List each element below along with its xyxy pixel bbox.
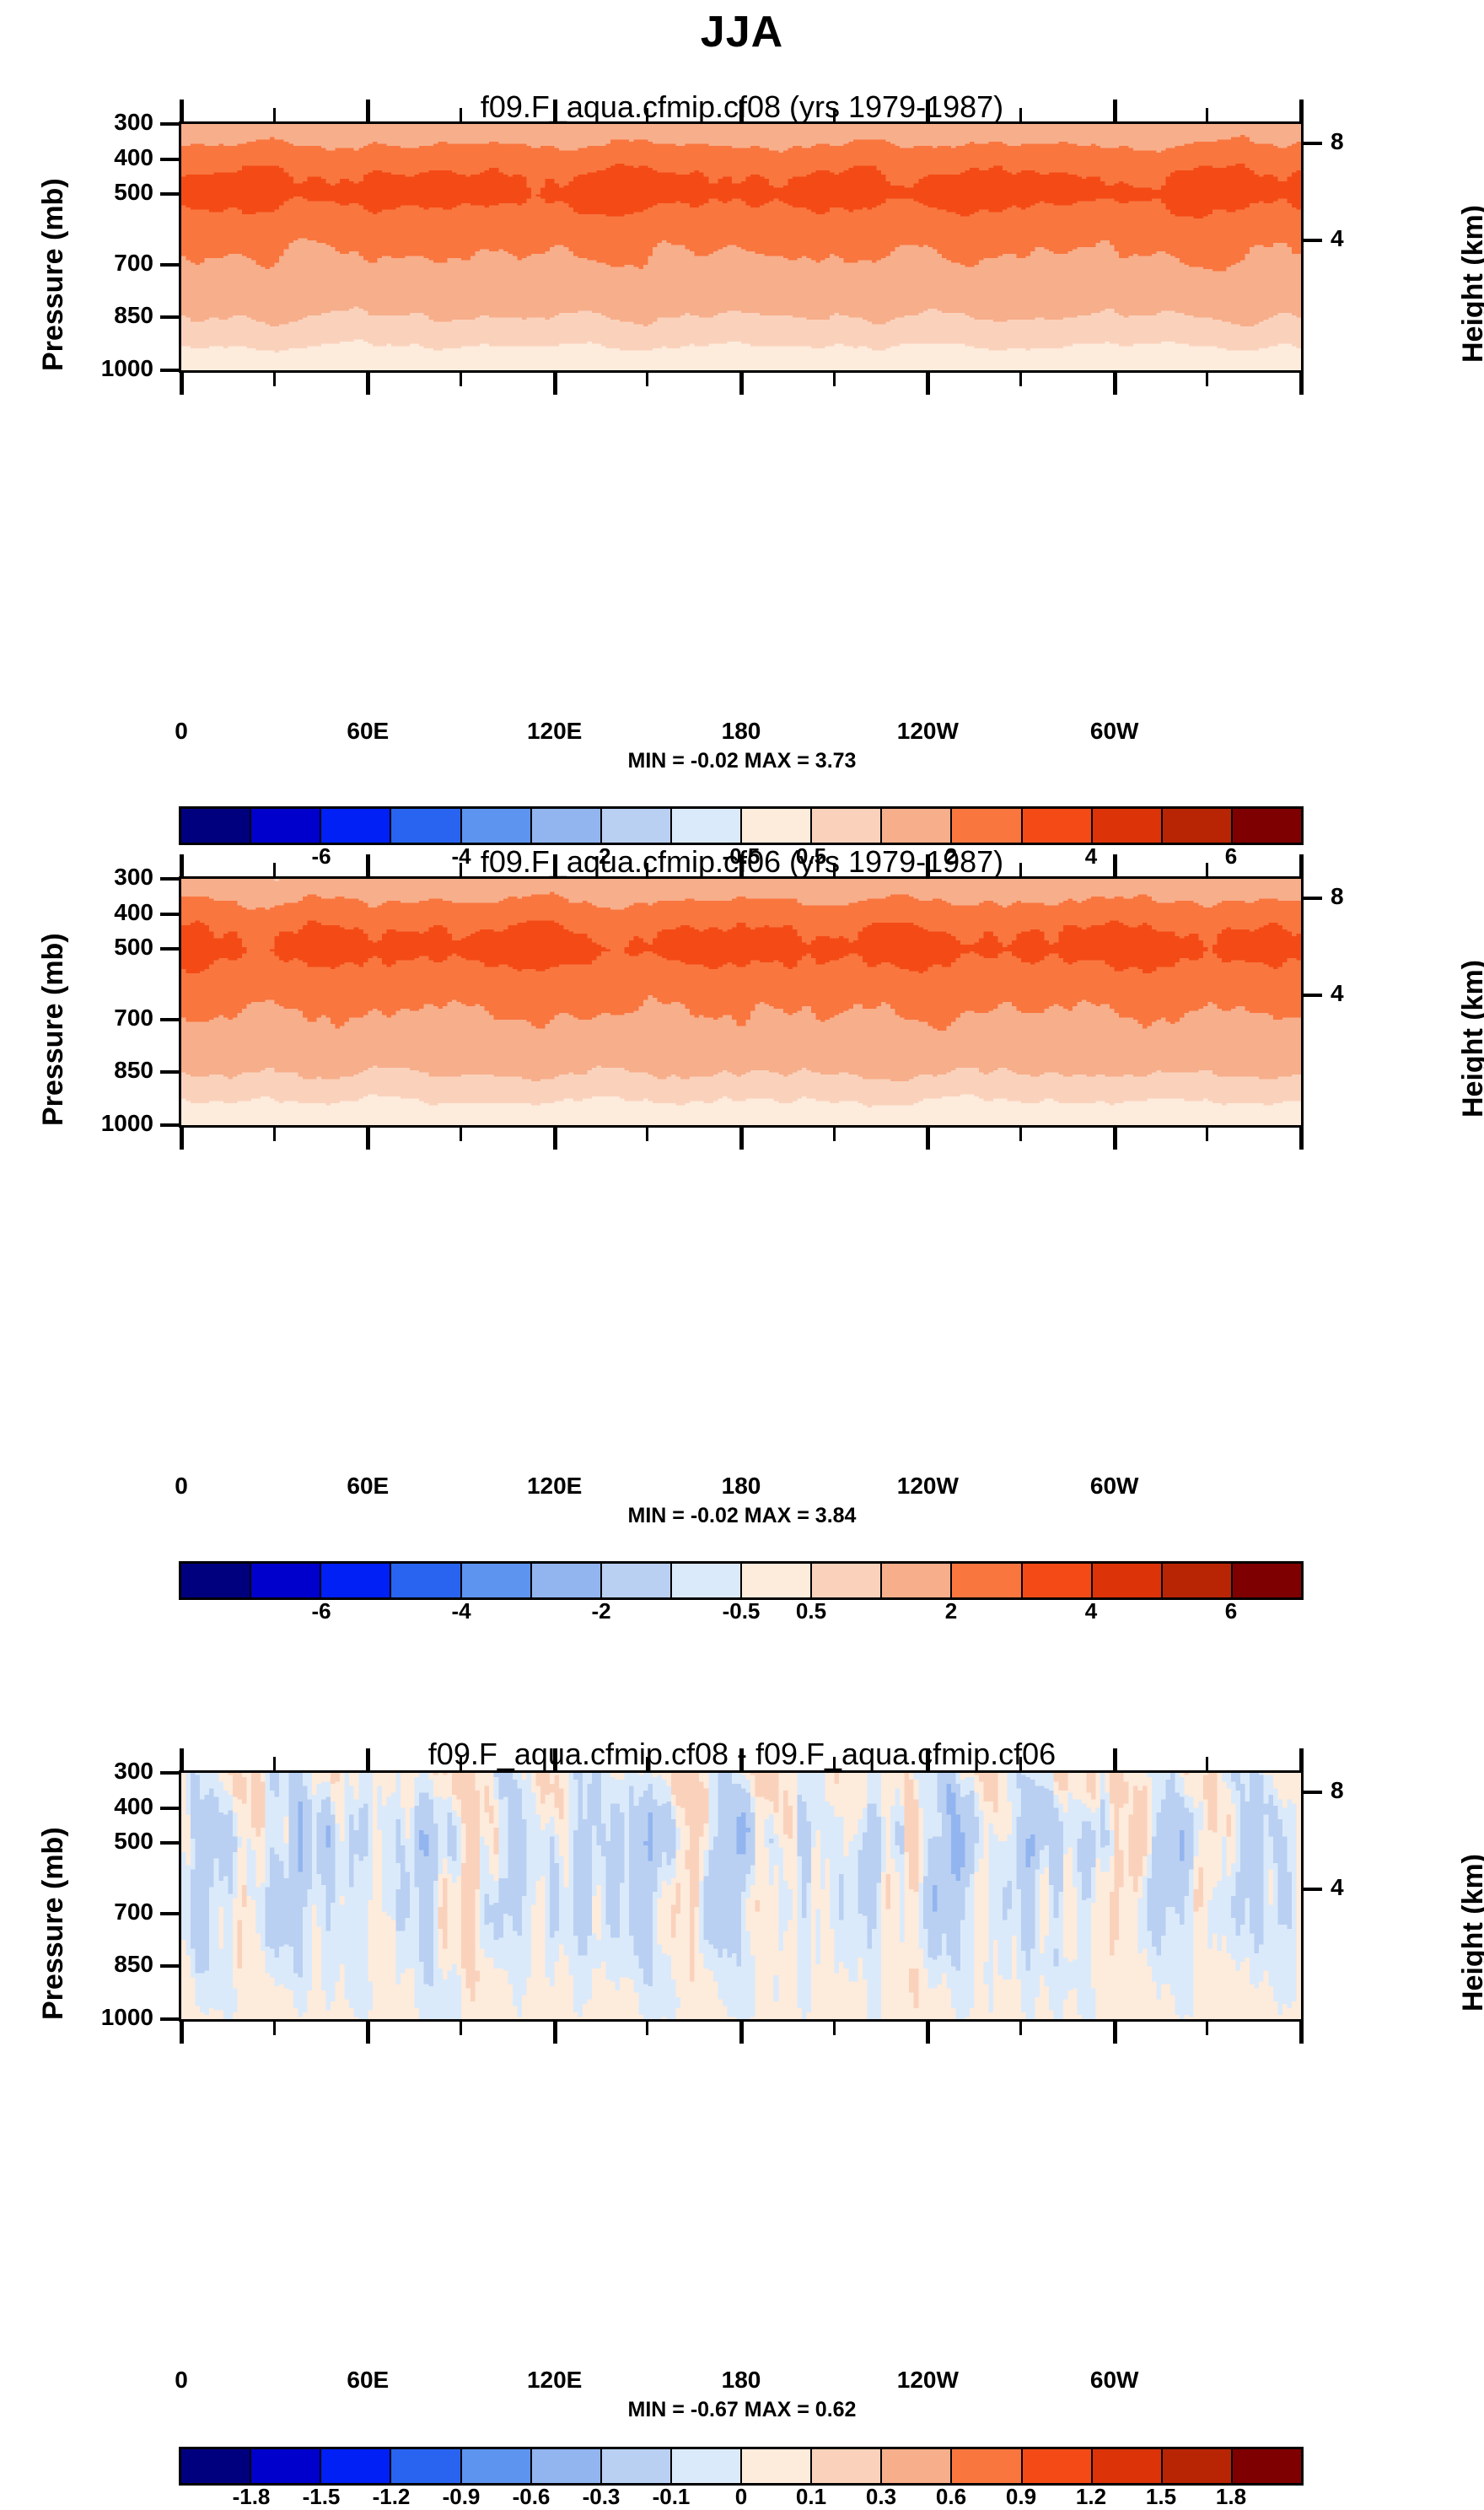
panel-diff-ylabel-left: Pressure (mb) (37, 1827, 70, 2020)
xtick-major-bottom (739, 2022, 744, 2044)
xtick-minor-bottom (1019, 373, 1022, 386)
yright-tick-mark (1304, 239, 1322, 242)
xtick-minor-top (273, 863, 276, 876)
xtick-major-bottom (553, 1128, 557, 1150)
ytick-label: 300 (44, 109, 153, 136)
ytick-label: 400 (44, 144, 153, 171)
xtick-major-top (926, 1748, 930, 1770)
colorbar-cell (321, 2449, 391, 2483)
colorbar-cell (181, 1564, 251, 1597)
xtick-major-top (739, 100, 744, 121)
xtick-major-bottom (180, 373, 184, 395)
colorbar-cell (672, 2449, 742, 2483)
colorbar-cell (1023, 1564, 1093, 1597)
colorbar-cell (742, 1564, 812, 1597)
colorbar-cell (321, 1564, 391, 1597)
colorbar-cell (391, 2449, 461, 2483)
ytick-mark (160, 1123, 179, 1127)
xtick-major-top (180, 1748, 184, 1770)
colorbar-cell (532, 1564, 602, 1597)
yright-tick-mark (1304, 142, 1322, 145)
ytick-mark (160, 947, 179, 951)
figure-canvas: JJA f09.F_aqua.cfmip.cf08 (yrs 1979-1987… (0, 0, 1484, 2509)
xtick-label: 120E (527, 2367, 582, 2394)
ytick-label: 400 (44, 1793, 153, 1820)
colorbar-cell (952, 809, 1022, 843)
ytick-label: 300 (44, 1758, 153, 1785)
panel-cf06-colorbar[interactable] (179, 1561, 1304, 1600)
colorbar-cell (1093, 1564, 1163, 1597)
ytick-mark (160, 913, 179, 916)
xtick-minor-bottom (646, 1128, 648, 1141)
panel-cf06-plot-area (179, 876, 1304, 1128)
xtick-major-top (926, 854, 930, 876)
xtick-major-bottom (180, 1128, 184, 1150)
xtick-minor-bottom (460, 1128, 462, 1141)
xtick-label: 60E (347, 2367, 389, 2394)
colorbar-cell (882, 1564, 952, 1597)
ytick-mark (160, 315, 179, 319)
xtick-major-bottom (553, 2022, 557, 2044)
xtick-minor-top (1206, 1757, 1208, 1770)
ytick-mark (160, 1018, 179, 1021)
colorbar-tick-label: -0.9 (443, 2484, 481, 2510)
panel-cf06-ylabel-left: Pressure (mb) (37, 933, 70, 1126)
xtick-minor-top (460, 1757, 462, 1770)
colorbar-tick-label: 0.1 (796, 2484, 826, 2510)
colorbar-cell (1163, 1564, 1233, 1597)
xtick-major-bottom (739, 1128, 744, 1150)
panel-cf06-minmax-label: MIN = -0.02 MAX = 3.84 (0, 1504, 1484, 1528)
colorbar-tick-label: -4 (451, 1598, 470, 1624)
colorbar-tick-label: 0.3 (866, 2484, 896, 2510)
xtick-minor-top (273, 1757, 276, 1770)
ytick-mark (160, 122, 179, 126)
colorbar-tick-label: -6 (311, 1598, 331, 1624)
xtick-label: 0 (175, 2367, 188, 2394)
xtick-major-bottom (1299, 2022, 1304, 2044)
xtick-minor-bottom (646, 2022, 648, 2035)
xtick-label: 0 (175, 718, 188, 745)
xtick-label: 0 (175, 1473, 188, 1500)
colorbar-tick-label: -0.6 (513, 2484, 551, 2510)
colorbar-cell (952, 2449, 1022, 2483)
colorbar-cell (391, 809, 461, 843)
colorbar-cell (462, 1564, 532, 1597)
xtick-major-bottom (926, 373, 930, 395)
colorbar-tick-label: 4 (1085, 1598, 1097, 1624)
xtick-label: 180 (722, 718, 761, 745)
yright-label: 4 (1331, 980, 1406, 1007)
ytick-mark (160, 369, 179, 372)
xtick-minor-bottom (1019, 1128, 1022, 1141)
ytick-mark (160, 1070, 179, 1074)
xtick-minor-bottom (1206, 2022, 1208, 2035)
xtick-major-bottom (1299, 373, 1304, 395)
colorbar-cell (602, 2449, 672, 2483)
panel-diff-colorbar[interactable] (179, 2447, 1304, 2486)
xtick-major-bottom (926, 1128, 930, 1150)
colorbar-tick-label: -2 (591, 1598, 610, 1624)
xtick-major-top (739, 1748, 744, 1770)
colorbar-tick-label: -0.5 (723, 1598, 761, 1624)
xtick-major-bottom (1113, 2022, 1117, 2044)
colorbar-cell (1233, 1564, 1301, 1597)
xtick-minor-top (1019, 863, 1022, 876)
xtick-minor-top (646, 863, 648, 876)
colorbar-cell (1093, 809, 1163, 843)
colorbar-cell (1233, 2449, 1301, 2483)
xtick-minor-top (460, 108, 462, 121)
colorbar-tick-label: 0.5 (796, 1598, 826, 1624)
ytick-mark (160, 1912, 179, 1915)
xtick-major-bottom (1113, 373, 1117, 395)
xtick-minor-top (833, 863, 836, 876)
colorbar-cell (742, 809, 812, 843)
panel-cf06-ylabel-right: Height (km) (1457, 960, 1484, 1118)
colorbar-tick-label: 2 (945, 1598, 957, 1624)
ytick-mark (160, 263, 179, 267)
xtick-minor-top (833, 108, 836, 121)
xtick-major-bottom (553, 373, 557, 395)
panel-cf08-plot-area (179, 121, 1304, 373)
colorbar-cell (812, 809, 882, 843)
xtick-label: 60E (347, 1473, 389, 1500)
xtick-minor-bottom (646, 373, 648, 386)
colorbar-cell (181, 809, 251, 843)
colorbar-cell (462, 809, 532, 843)
xtick-label: 120W (897, 1473, 959, 1500)
xtick-minor-bottom (833, 1128, 836, 1141)
colorbar-cell (251, 809, 321, 843)
ytick-mark (160, 877, 179, 881)
colorbar-tick-label: 0 (735, 2484, 747, 2510)
yright-label: 4 (1331, 1874, 1406, 1901)
xtick-label: 120E (527, 1473, 582, 1500)
xtick-major-top (1113, 1748, 1117, 1770)
xtick-minor-bottom (833, 373, 836, 386)
xtick-label: 60W (1090, 1473, 1139, 1500)
panel-diff-minmax-label: MIN = -0.67 MAX = 0.62 (0, 2398, 1484, 2422)
colorbar-tick-label: 0.9 (1006, 2484, 1036, 2510)
xtick-minor-bottom (460, 373, 462, 386)
colorbar-cell (672, 809, 742, 843)
colorbar-cell (532, 809, 602, 843)
xtick-minor-bottom (833, 2022, 836, 2035)
colorbar-cell (532, 2449, 602, 2483)
colorbar-cell (1023, 809, 1093, 843)
ytick-label: 300 (44, 864, 153, 891)
colorbar-cell (882, 2449, 952, 2483)
xtick-label: 180 (722, 2367, 761, 2394)
panel-cf08-colorbar[interactable] (179, 806, 1304, 845)
xtick-major-bottom (739, 373, 744, 395)
xtick-minor-top (273, 108, 276, 121)
xtick-major-bottom (1113, 1128, 1117, 1150)
colorbar-cell (1163, 809, 1233, 843)
colorbar-cell (812, 1564, 882, 1597)
yright-label: 8 (1331, 883, 1406, 910)
yright-label: 4 (1331, 225, 1406, 252)
colorbar-cell (742, 2449, 812, 2483)
colorbar-tick-label: -1.2 (373, 2484, 411, 2510)
xtick-label: 120W (897, 718, 959, 745)
xtick-major-top (1113, 100, 1117, 121)
xtick-major-top (180, 854, 184, 876)
ytick-mark (160, 2017, 179, 2021)
colorbar-cell (882, 809, 952, 843)
xtick-minor-top (460, 863, 462, 876)
xtick-minor-bottom (1019, 2022, 1022, 2035)
colorbar-cell (321, 809, 391, 843)
xtick-major-top (366, 100, 370, 121)
xtick-minor-bottom (273, 373, 276, 386)
colorbar-tick-label: 6 (1225, 1598, 1237, 1624)
xtick-major-bottom (180, 2022, 184, 2044)
colorbar-cell (602, 809, 672, 843)
xtick-major-top (553, 100, 557, 121)
xtick-minor-bottom (1206, 373, 1208, 386)
colorbar-cell (251, 1564, 321, 1597)
xtick-major-bottom (926, 2022, 930, 2044)
ytick-mark (160, 192, 179, 196)
yright-label: 8 (1331, 1777, 1406, 1804)
yright-tick-mark (1304, 1791, 1322, 1794)
xtick-label: 120E (527, 718, 582, 745)
xtick-minor-bottom (1206, 1128, 1208, 1141)
xtick-minor-bottom (273, 2022, 276, 2035)
xtick-minor-top (1206, 863, 1208, 876)
main-title: JJA (0, 7, 1484, 57)
colorbar-cell (1163, 2449, 1233, 2483)
ytick-mark (160, 1841, 179, 1845)
colorbar-cell (1023, 2449, 1093, 2483)
xtick-minor-top (646, 108, 648, 121)
xtick-major-top (1299, 854, 1304, 876)
ytick-mark (160, 1771, 179, 1775)
xtick-major-bottom (1299, 1128, 1304, 1150)
xtick-label: 60W (1090, 718, 1139, 745)
xtick-major-bottom (366, 2022, 370, 2044)
xtick-major-top (366, 854, 370, 876)
xtick-major-bottom (366, 1128, 370, 1150)
xtick-major-top (180, 100, 184, 121)
xtick-label: 180 (722, 1473, 761, 1500)
colorbar-cell (1233, 809, 1301, 843)
yright-tick-mark (1304, 897, 1322, 900)
colorbar-tick-label: -0.1 (653, 2484, 691, 2510)
colorbar-cell (462, 2449, 532, 2483)
xtick-minor-bottom (460, 2022, 462, 2035)
colorbar-cell (602, 1564, 672, 1597)
ytick-label: 400 (44, 899, 153, 926)
xtick-minor-bottom (273, 1128, 276, 1141)
colorbar-cell (251, 2449, 321, 2483)
xtick-minor-top (833, 1757, 836, 1770)
colorbar-cell (672, 1564, 742, 1597)
xtick-minor-top (1019, 108, 1022, 121)
colorbar-cell (391, 1564, 461, 1597)
colorbar-tick-label: 0.6 (936, 2484, 966, 2510)
xtick-major-top (366, 1748, 370, 1770)
xtick-major-top (553, 854, 557, 876)
colorbar-cell (1093, 2449, 1163, 2483)
xtick-major-top (926, 100, 930, 121)
xtick-major-top (739, 854, 744, 876)
colorbar-cell (812, 2449, 882, 2483)
colorbar-cell (952, 1564, 1022, 1597)
panel-cf08-ylabel-left: Pressure (mb) (37, 178, 70, 371)
yright-label: 8 (1331, 128, 1406, 155)
colorbar-tick-label: -1.8 (233, 2484, 271, 2510)
ytick-mark (160, 1964, 179, 1968)
xtick-minor-top (1206, 108, 1208, 121)
colorbar-tick-label: 1.8 (1216, 2484, 1246, 2510)
colorbar-tick-label: -1.5 (303, 2484, 341, 2510)
colorbar-tick-label: 1.2 (1076, 2484, 1106, 2510)
xtick-label: 120W (897, 2367, 959, 2394)
panel-diff-ylabel-right: Height (km) (1457, 1854, 1484, 2012)
yright-tick-mark (1304, 1888, 1322, 1891)
xtick-major-top (553, 1748, 557, 1770)
panel-cf08-minmax-label: MIN = -0.02 MAX = 3.73 (0, 749, 1484, 773)
ytick-mark (160, 1807, 179, 1810)
xtick-label: 60W (1090, 2367, 1139, 2394)
colorbar-tick-label: -0.3 (583, 2484, 621, 2510)
xtick-minor-top (1019, 1757, 1022, 1770)
xtick-major-top (1113, 854, 1117, 876)
colorbar-tick-label: 1.5 (1146, 2484, 1176, 2510)
ytick-mark (160, 158, 179, 161)
xtick-major-bottom (366, 373, 370, 395)
panel-diff-plot-area (179, 1770, 1304, 2022)
yright-tick-mark (1304, 994, 1322, 997)
xtick-major-top (1299, 100, 1304, 121)
colorbar-cell (181, 2449, 251, 2483)
xtick-label: 60E (347, 718, 389, 745)
xtick-minor-top (646, 1757, 648, 1770)
xtick-major-top (1299, 1748, 1304, 1770)
panel-cf08-ylabel-right: Height (km) (1457, 205, 1484, 363)
